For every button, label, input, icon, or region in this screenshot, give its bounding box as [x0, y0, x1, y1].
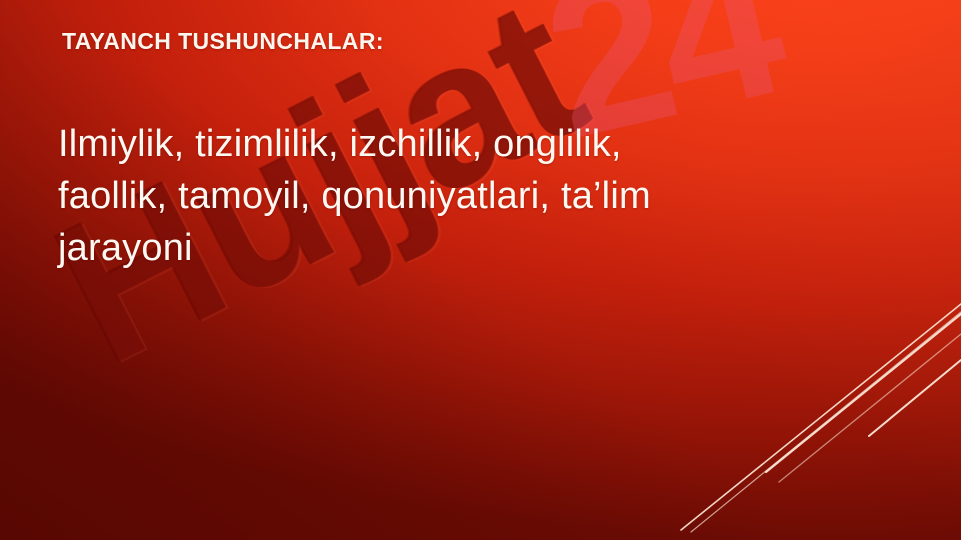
body-line: Ilmiylik, tizimlilik, izchillik, onglili…	[58, 118, 888, 170]
slide-body: Ilmiylik, tizimlilik, izchillik, onglili…	[58, 118, 888, 274]
body-line: faollik, tamoyil, qonuniyatlari, ta’lim	[58, 170, 888, 222]
page-title: TAYANCH TUSHUNCHALAR:	[62, 28, 384, 55]
body-line: jarayoni	[58, 222, 888, 274]
presentation-slide: Hujjat 24 TAYANCH TUSHUNCHALAR: Ilmiylik…	[0, 0, 961, 540]
